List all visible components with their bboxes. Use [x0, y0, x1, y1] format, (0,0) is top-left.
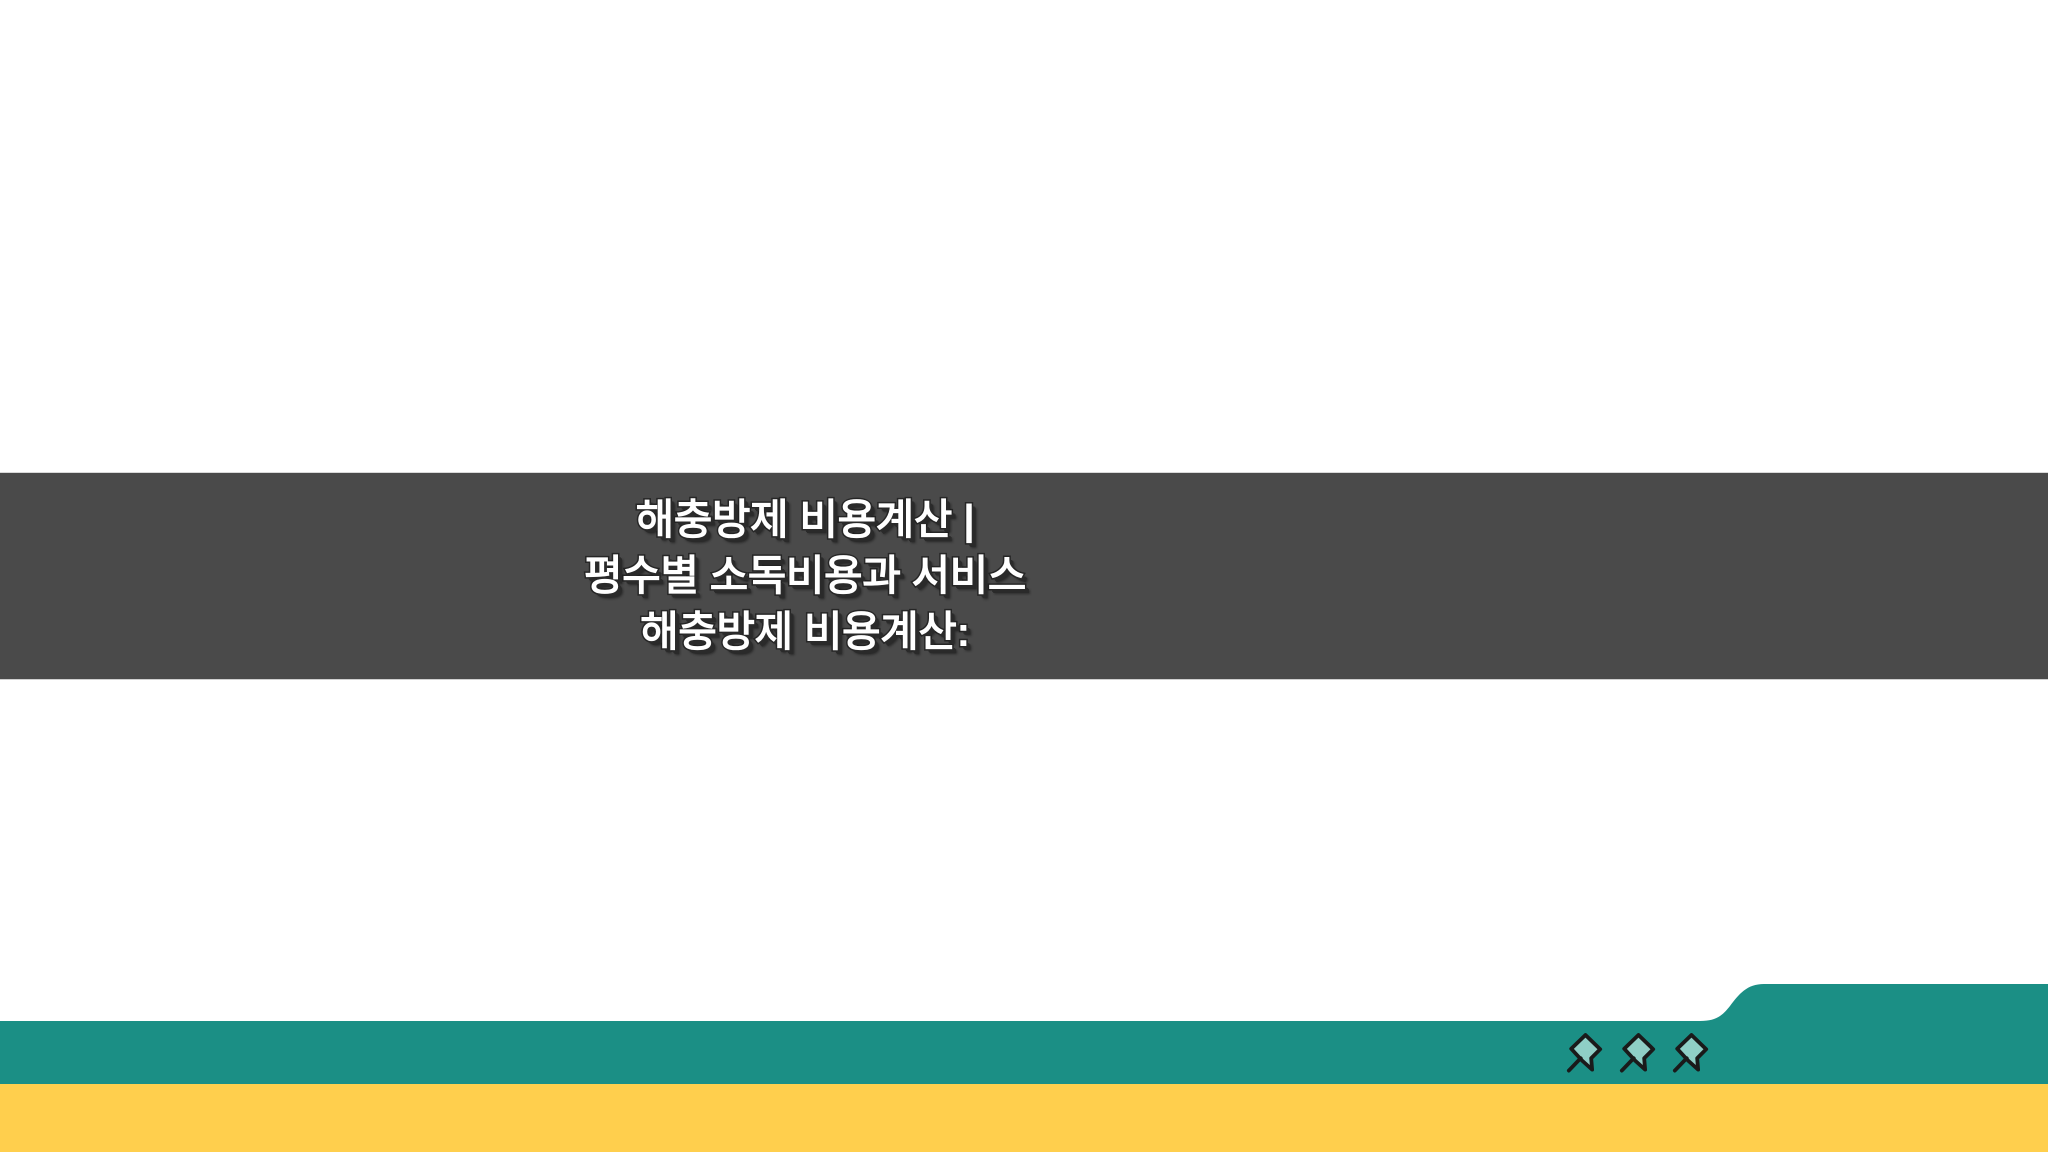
page-title-line-3: 해충방제 비용계산:	[640, 604, 970, 660]
page-title-line-2: 평수별 소독비용과 서비스	[584, 548, 1026, 604]
title-banner-text-block: 해충방제 비용계산 | 평수별 소독비용과 서비스 해충방제 비용계산:	[0, 473, 1610, 679]
pushpin-icon	[1672, 1031, 1710, 1075]
pushpin-icon	[1566, 1031, 1604, 1075]
yellow-footer-band	[0, 1084, 2048, 1152]
content-area-top	[0, 0, 2048, 472]
title-banner: 해충방제 비용계산 | 평수별 소독비용과 서비스 해충방제 비용계산:	[0, 472, 2048, 680]
footer-decor-icon-row	[1566, 1028, 1736, 1078]
page-root: 해충방제 비용계산 | 평수별 소독비용과 서비스 해충방제 비용계산:	[0, 0, 2048, 1152]
pushpin-icon	[1619, 1031, 1657, 1075]
content-area-bottom	[0, 680, 2048, 1021]
page-title-line-1: 해충방제 비용계산 |	[636, 492, 975, 548]
